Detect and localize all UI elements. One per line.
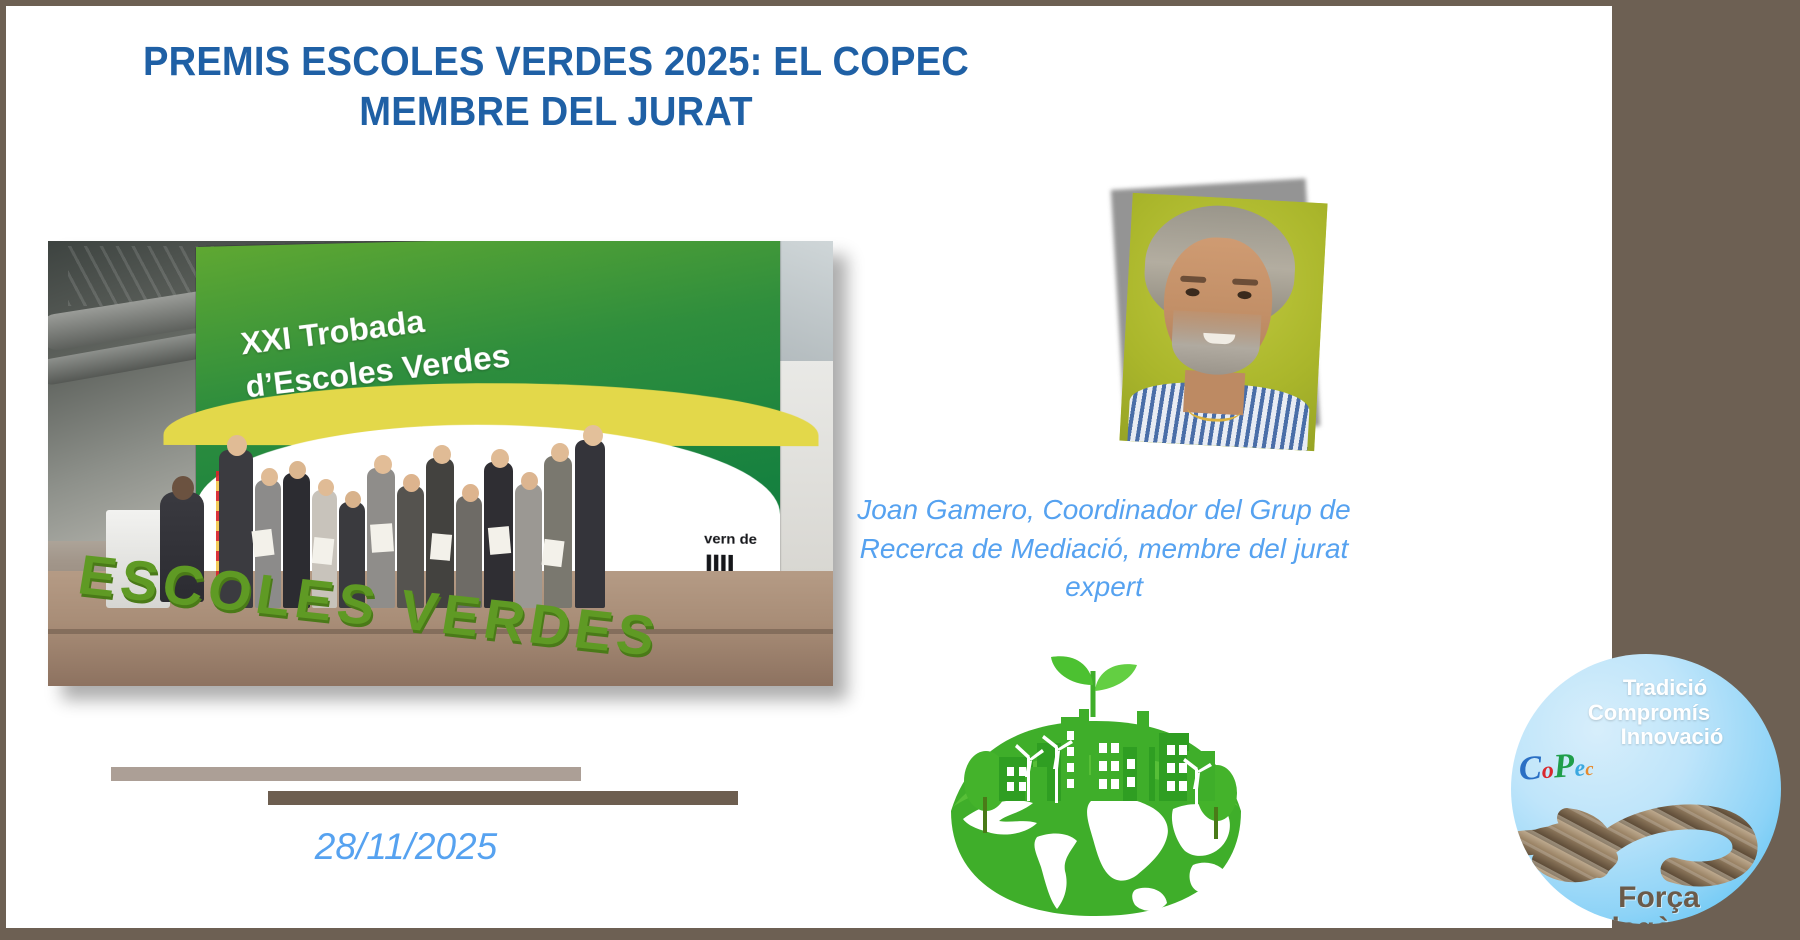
joan-gamero-portrait — [1126, 198, 1321, 446]
slide-root: PREMIS ESCOLES VERDES 2025: EL COPEC MEM… — [0, 0, 1800, 940]
person-head — [462, 484, 479, 502]
person-head — [374, 455, 392, 474]
rope-knot-icon — [1511, 782, 1781, 890]
person-head — [261, 468, 278, 486]
copec-slogan-bottom-line-2: Pedagògica — [1517, 913, 1781, 924]
person-head — [318, 479, 334, 496]
copec-wordmark-c2: c — [1585, 759, 1595, 781]
portrait-image — [1119, 193, 1327, 451]
person-head — [491, 449, 509, 468]
copec-logo: Tradició Compromís Innovació CoPec — [1511, 654, 1781, 924]
person-head — [289, 461, 306, 479]
portrait-caption: Joan Gamero, Coordinador del Grup de Rec… — [824, 491, 1384, 607]
certificate — [541, 539, 564, 567]
copec-slogan-top: Tradició Compromís Innovació — [1511, 676, 1781, 750]
person-head — [521, 472, 538, 490]
person-silhouette — [575, 440, 605, 608]
certificate — [312, 537, 335, 565]
certificate — [430, 533, 452, 561]
copec-slogan-bottom: Força Pedagògica — [1511, 882, 1781, 924]
page-title-line-1: PREMIS ESCOLES VERDES 2025: EL COPEC — [63, 36, 1049, 86]
person-head — [403, 474, 420, 492]
person-head — [433, 445, 451, 464]
person-silhouette — [544, 456, 572, 608]
event-photo-inner: XXI Trobada d’Escoles Verdes vern de |||… — [48, 241, 833, 686]
slide-canvas: PREMIS ESCOLES VERDES 2025: EL COPEC MEM… — [6, 6, 1612, 928]
decorative-bar-light — [111, 767, 581, 781]
page-title: PREMIS ESCOLES VERDES 2025: EL COPEC MEM… — [63, 36, 1049, 136]
date-label: 28/11/2025 — [181, 826, 631, 868]
certificate — [251, 529, 274, 557]
event-photo: XXI Trobada d’Escoles Verdes vern de |||… — [48, 241, 833, 686]
decorative-bar-dark — [268, 791, 738, 805]
copec-slogan-line-2: Compromís — [1517, 701, 1781, 726]
page-title-line-2: MEMBRE DEL JURAT — [63, 86, 1049, 136]
person-head — [227, 435, 247, 456]
copec-slogan-bottom-line-1: Força — [1537, 882, 1781, 913]
speaker-head — [172, 476, 194, 500]
certificate — [488, 526, 511, 555]
green-eco-city-globe-icon — [941, 651, 1251, 916]
person-head — [345, 491, 361, 508]
person-head — [551, 443, 569, 462]
copec-wordmark-p: P — [1552, 747, 1575, 785]
certificate — [370, 523, 394, 552]
person-head — [583, 425, 603, 446]
copec-slogan-line-1: Tradició — [1549, 676, 1781, 701]
sponsor-text: vern de — [704, 530, 757, 547]
copec-logo-circle: Tradició Compromís Innovació CoPec — [1511, 654, 1781, 924]
